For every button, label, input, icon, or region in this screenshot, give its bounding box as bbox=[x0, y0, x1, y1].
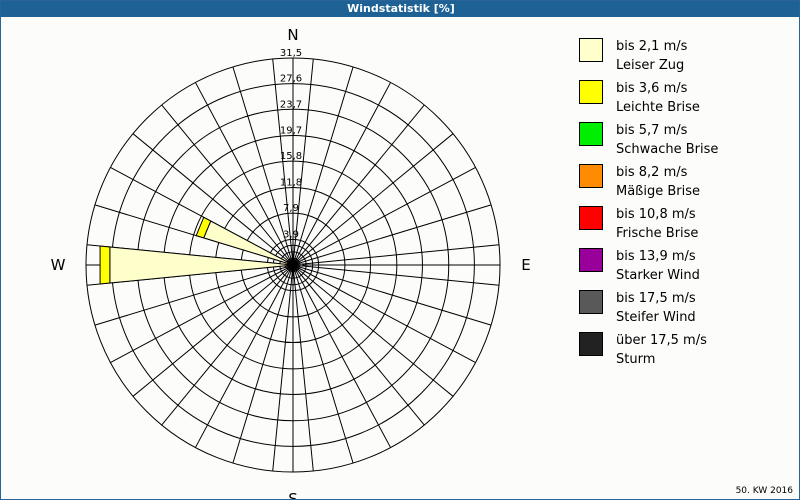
legend-label: bis 3,6 m/sLeichte Brise bbox=[616, 79, 700, 117]
legend-label: bis 8,2 m/sMäßige Brise bbox=[616, 163, 700, 201]
windstatistik-window: Windstatistik [%] 3,97,911,815,819,723,7… bbox=[0, 0, 800, 500]
radial-tick-labels: 3,97,911,815,819,723,727,631,5 bbox=[280, 48, 302, 240]
legend-beaufort-name: Mäßige Brise bbox=[616, 182, 700, 201]
radial-tick-label: 7,9 bbox=[283, 203, 299, 214]
legend-label: bis 10,8 m/sFrische Brise bbox=[616, 205, 698, 243]
radial-tick-label: 3,9 bbox=[283, 229, 299, 240]
radial-tick-label: 27,6 bbox=[280, 74, 302, 85]
legend-beaufort-name: Starker Wind bbox=[616, 266, 700, 285]
compass-label-south: S bbox=[288, 490, 298, 500]
legend-beaufort-name: Sturm bbox=[616, 350, 707, 369]
legend-color-swatch bbox=[579, 206, 603, 230]
legend-item: bis 5,7 m/sSchwache Brise bbox=[579, 121, 789, 159]
radial-tick-label: 23,7 bbox=[280, 99, 302, 110]
legend-color-swatch bbox=[579, 164, 603, 188]
page-title: Windstatistik [%] bbox=[347, 2, 455, 15]
legend-speed-range: bis 10,8 m/s bbox=[616, 207, 696, 222]
legend-speed-range: bis 2,1 m/s bbox=[616, 39, 687, 54]
legend-speed-range: über 17,5 m/s bbox=[616, 333, 707, 348]
legend-label: bis 2,1 m/sLeiser Zug bbox=[616, 37, 687, 75]
legend-speed-range: bis 5,7 m/s bbox=[616, 123, 687, 138]
wind-rose-chart: 3,97,911,815,819,723,727,631,5NESW bbox=[1, 17, 566, 500]
legend-color-swatch bbox=[579, 80, 603, 104]
legend-item: bis 17,5 m/sSteifer Wind bbox=[579, 289, 789, 327]
legend-color-swatch bbox=[579, 332, 603, 356]
legend-item: bis 13,9 m/sStarker Wind bbox=[579, 247, 789, 285]
compass-label-west: W bbox=[51, 256, 66, 274]
compass-label-east: E bbox=[521, 256, 530, 274]
legend-color-swatch bbox=[579, 248, 603, 272]
legend-color-swatch bbox=[579, 122, 603, 146]
window-title-bar: Windstatistik [%] bbox=[1, 1, 800, 17]
legend-beaufort-name: Frische Brise bbox=[616, 224, 698, 243]
legend-item: bis 10,8 m/sFrische Brise bbox=[579, 205, 789, 243]
legend-label: über 17,5 m/sSturm bbox=[616, 331, 707, 369]
legend-speed-range: bis 17,5 m/s bbox=[616, 291, 696, 306]
legend-color-swatch bbox=[579, 290, 603, 314]
radial-tick-label: 11,8 bbox=[280, 177, 302, 188]
legend-beaufort-name: Schwache Brise bbox=[616, 140, 718, 159]
legend-speed-range: bis 13,9 m/s bbox=[616, 249, 696, 264]
legend-item: bis 3,6 m/sLeichte Brise bbox=[579, 79, 789, 117]
legend-color-swatch bbox=[579, 38, 603, 62]
legend-item: über 17,5 m/sSturm bbox=[579, 331, 789, 369]
legend-beaufort-name: Leiser Zug bbox=[616, 56, 687, 75]
legend-item: bis 2,1 m/sLeiser Zug bbox=[579, 37, 789, 75]
legend-label: bis 5,7 m/sSchwache Brise bbox=[616, 121, 718, 159]
legend-item: bis 8,2 m/sMäßige Brise bbox=[579, 163, 789, 201]
legend-beaufort-name: Steifer Wind bbox=[616, 308, 696, 327]
legend: bis 2,1 m/sLeiser Zugbis 3,6 m/sLeichte … bbox=[579, 37, 789, 373]
wind-rose-svg: 3,97,911,815,819,723,727,631,5NESW bbox=[1, 17, 566, 500]
radial-tick-label: 15,8 bbox=[280, 151, 302, 162]
radial-tick-label: 31,5 bbox=[280, 48, 302, 59]
legend-beaufort-name: Leichte Brise bbox=[616, 98, 700, 117]
wind-petal-w-band-2 bbox=[100, 246, 110, 284]
legend-speed-range: bis 3,6 m/s bbox=[616, 81, 687, 96]
legend-speed-range: bis 8,2 m/s bbox=[616, 165, 687, 180]
legend-label: bis 17,5 m/sSteifer Wind bbox=[616, 289, 696, 327]
compass-label-north: N bbox=[287, 26, 298, 44]
footer-week-label: 50. KW 2016 bbox=[736, 486, 793, 496]
legend-label: bis 13,9 m/sStarker Wind bbox=[616, 247, 700, 285]
radial-tick-label: 19,7 bbox=[280, 126, 302, 137]
